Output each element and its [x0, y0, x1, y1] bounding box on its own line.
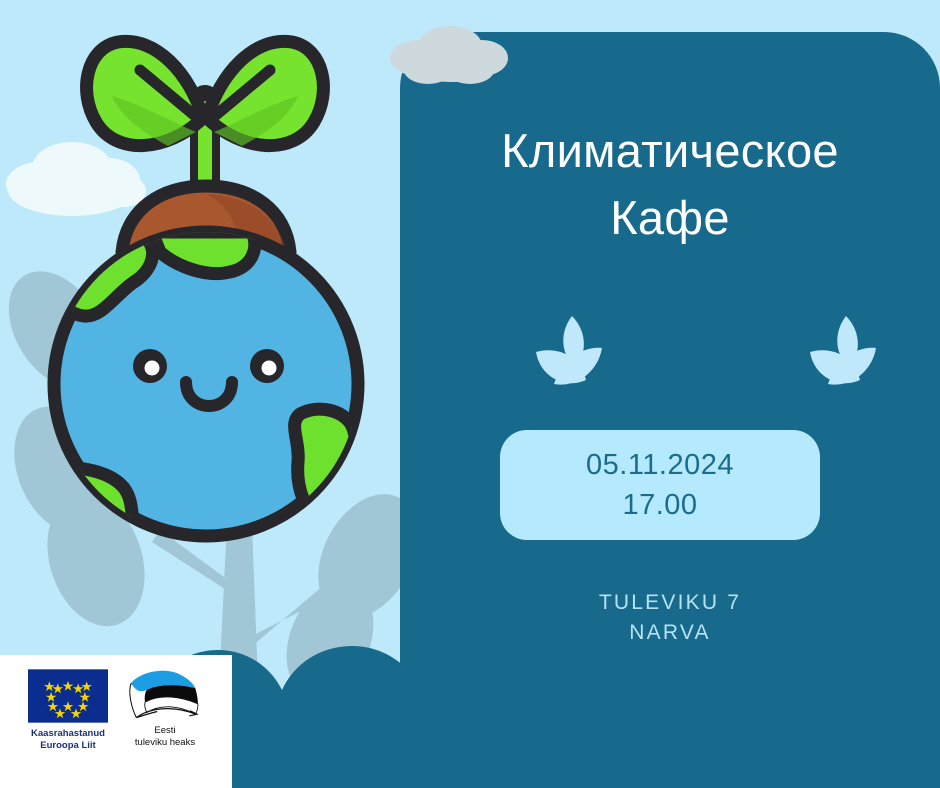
estonia-flag-wave-icon: [126, 669, 204, 723]
poster-canvas: Климатическое Кафе 05.11.2024 17.00 TULE…: [0, 0, 940, 788]
eu-logo-caption: Kaasrahastanud Euroopa Liit: [31, 728, 105, 752]
eu-logo-block: Kaasrahastanud Euroopa Liit: [28, 669, 108, 752]
funding-logo-panel: Kaasrahastanud Euroopa Liit: [0, 655, 232, 788]
estonia-logo-caption: Eesti tuleviku heaks: [135, 725, 195, 749]
european-union-flag-icon: [28, 669, 108, 723]
estonia-logo-block: Eesti tuleviku heaks: [126, 669, 204, 749]
smiling-earth-globe: [34, 232, 358, 592]
